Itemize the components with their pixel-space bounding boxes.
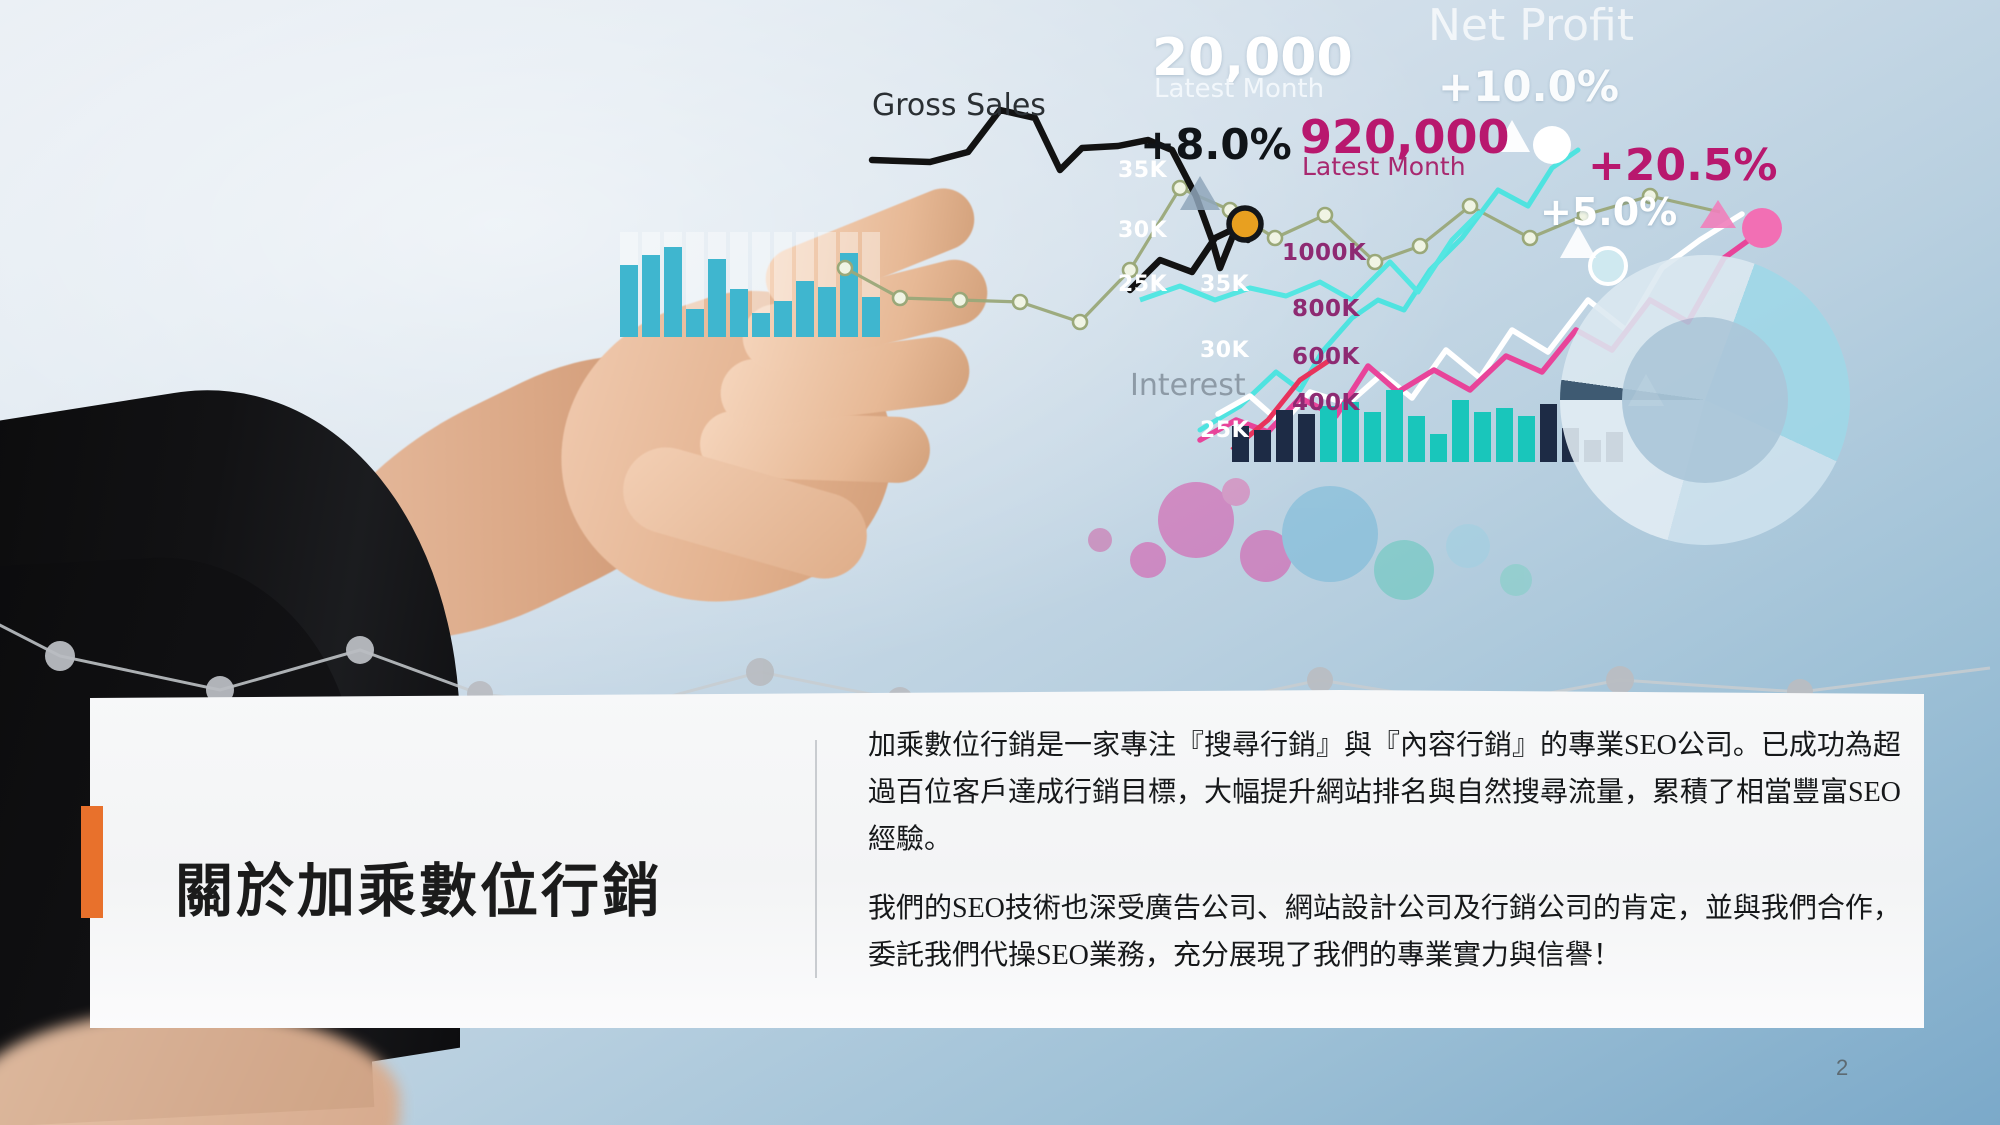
label-latest-month-2: Latest Month: [1302, 152, 1466, 181]
label-gross-sales: Gross Sales: [872, 88, 1046, 123]
axis-tick-35k-b: 35K: [1200, 272, 1249, 297]
axis-tick-800k: 800K: [1292, 296, 1360, 322]
label-pct-5: +5.0%: [1540, 190, 1677, 234]
axis-tick-25k-a: 25K: [1118, 272, 1167, 297]
label-interest: Interest: [1130, 368, 1246, 403]
accent-bar: [81, 806, 103, 918]
axis-tick-30k-b: 30K: [1200, 338, 1249, 363]
paragraph-2: 我們的SEO技術也深受廣告公司、網站設計公司及行銷公司的肯定，並與我們合作，委託…: [868, 885, 1908, 979]
page-number: 2: [1836, 1055, 1848, 1081]
body-text: 加乘數位行銷是一家專注『搜尋行銷』與『內容行銷』的專業SEO公司。已成功為超過百…: [868, 722, 1908, 1001]
label-pct-10: +10.0%: [1438, 62, 1619, 111]
slide: Gross Sales 20,000 Latest Month +8.0% Ne…: [0, 0, 2000, 1125]
axis-tick-1000k: 1000K: [1282, 240, 1366, 266]
axis-tick-600k: 600K: [1292, 344, 1360, 370]
axis-tick-400k: 400K: [1292, 390, 1360, 416]
paragraph-1: 加乘數位行銷是一家專注『搜尋行銷』與『內容行銷』的專業SEO公司。已成功為超過百…: [868, 722, 1908, 863]
label-net-profit: Net Profit: [1428, 0, 1634, 51]
label-pct-205: +20.5%: [1588, 140, 1778, 191]
label-latest-month-1: Latest Month: [1154, 74, 1324, 104]
donut-chart: [1560, 255, 1850, 545]
axis-tick-25k-b: 25K: [1200, 418, 1249, 443]
axis-tick-35k-a: 35K: [1118, 158, 1167, 183]
axis-tick-30k-a: 30K: [1118, 218, 1167, 243]
page-title: 關於加乘數位行銷: [175, 844, 775, 928]
vertical-divider: [815, 740, 817, 978]
